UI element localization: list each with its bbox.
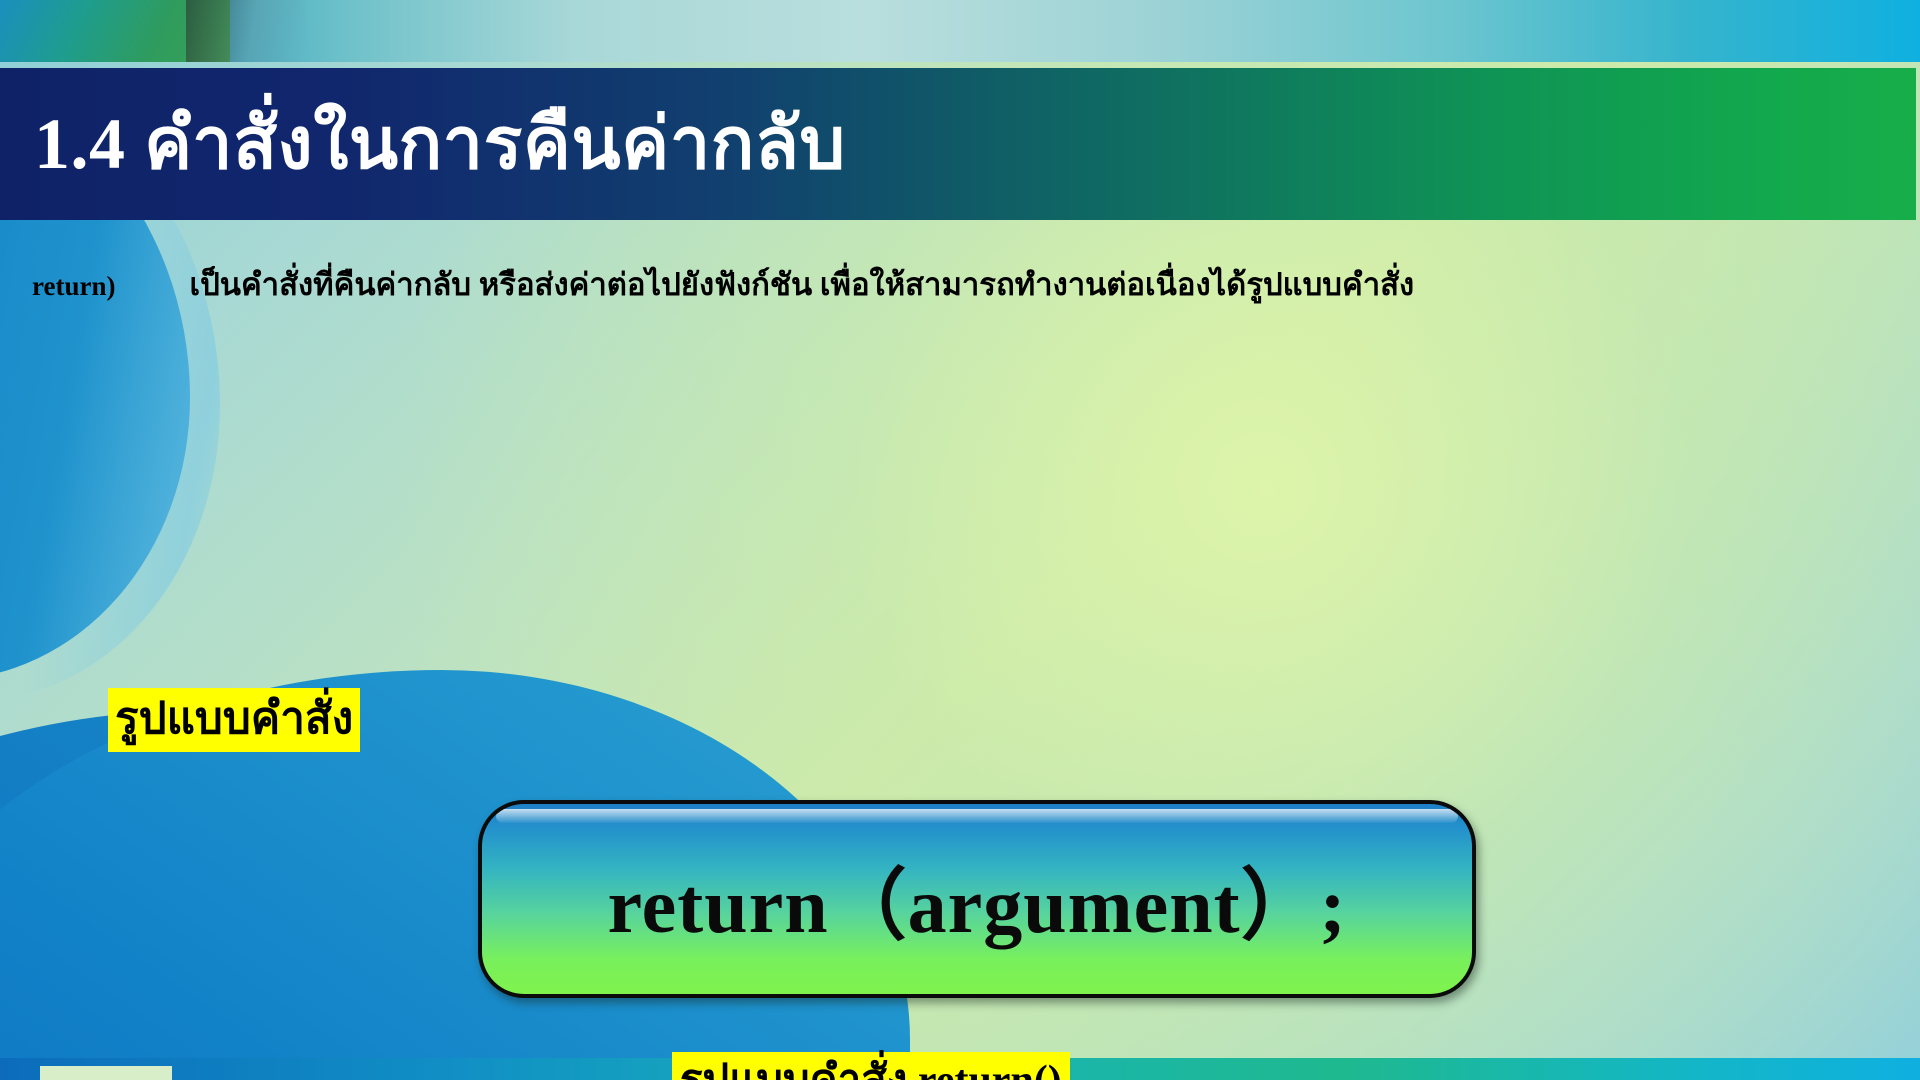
bottom-left-tab-deco (40, 1066, 172, 1080)
syntax-code-text: return（argument）; (607, 843, 1346, 955)
body-paragraph: return)เป็นคำสั่งที่คืนค่ากลับ หรือส่งค่… (32, 264, 1902, 307)
top-left-shadow-deco (186, 0, 306, 62)
highlight-caption-return-syntax: รูปแบบคำสั่ง return() (672, 1052, 1070, 1080)
page-title: 1.4 คำสั่งในการคืนค่ากลับ (0, 108, 846, 180)
slide-title-bar: 1.4 คำสั่งในการคืนค่ากลับ (0, 68, 1916, 220)
syntax-callout-box: return（argument）; (478, 800, 1476, 998)
body-description-text: เป็นคำสั่งที่คืนค่ากลับ หรือส่งค่าต่อไปย… (189, 267, 1414, 302)
slide-canvas: 1.4 คำสั่งในการคืนค่ากลับ return)เป็นคำส… (0, 0, 1920, 1080)
highlight-label-syntax-top: รูปแบบคำสั่ง (108, 688, 360, 752)
return-keyword-label: return) (32, 271, 115, 301)
